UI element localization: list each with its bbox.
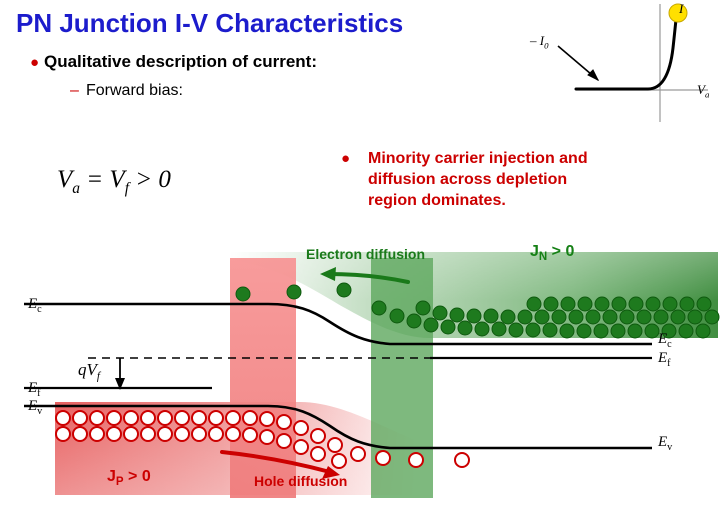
operating-point-dot-icon	[669, 4, 687, 22]
note-line-3: region dominates.	[368, 190, 671, 211]
dash-marker-icon: –	[70, 82, 86, 100]
ec-left-label: Ec	[28, 296, 42, 315]
ef-left-label: Ef	[28, 380, 41, 399]
iv-axis-voltage-label: Va	[697, 82, 709, 100]
bullet-level2-label: Forward bias:	[86, 82, 183, 99]
n-side-shading-highlight	[230, 252, 718, 300]
ev-right-label: Ev	[658, 434, 672, 453]
equation-lhs-symbol: V	[57, 166, 72, 193]
red-bullet-marker-icon: ●	[341, 149, 350, 169]
iv-diode-curve	[576, 12, 677, 89]
ev-left-label: Ev	[28, 398, 42, 417]
bullet-level1-label: Qualitative description of current:	[44, 52, 317, 71]
iv-saturation-current-label: – I0	[530, 33, 549, 51]
equation-lhs-subscript: a	[72, 180, 80, 197]
bullet-marker-icon: ●	[30, 54, 44, 71]
equation-comparison: > 0	[135, 166, 171, 193]
ef-right-label: Ef	[658, 350, 671, 369]
slide-root: PN Junction I-V Characteristics ●Qualita…	[0, 0, 720, 517]
note-line-2: diffusion across depletion	[368, 169, 671, 190]
saturation-arrow-head	[588, 70, 598, 80]
note-line-1: Minority carrier injection and	[368, 148, 671, 169]
iv-axis-current-label: I	[679, 1, 683, 17]
iv-curve-inset	[520, 0, 720, 130]
page-title: PN Junction I-V Characteristics	[16, 8, 403, 39]
qvf-label: qVf	[78, 360, 100, 382]
equation-rhs-symbol: V	[109, 166, 124, 193]
jp-label: JP > 0	[107, 468, 151, 488]
forward-bias-equation: Va = Vf > 0	[57, 166, 171, 198]
jn-label: JN > 0	[530, 243, 574, 263]
minority-carrier-note: ● Minority carrier injection and diffusi…	[341, 148, 671, 211]
bullet-qualitative-description: ●Qualitative description of current:	[30, 52, 317, 72]
equation-equals: =	[86, 166, 103, 193]
electron-diffusion-label: Electron diffusion	[306, 246, 425, 262]
hole-diffusion-label: Hole diffusion	[254, 473, 347, 489]
bullet-forward-bias: –Forward bias:	[70, 82, 183, 100]
equation-rhs-subscript: f	[125, 180, 129, 197]
ec-right-label: Ec	[658, 331, 672, 350]
